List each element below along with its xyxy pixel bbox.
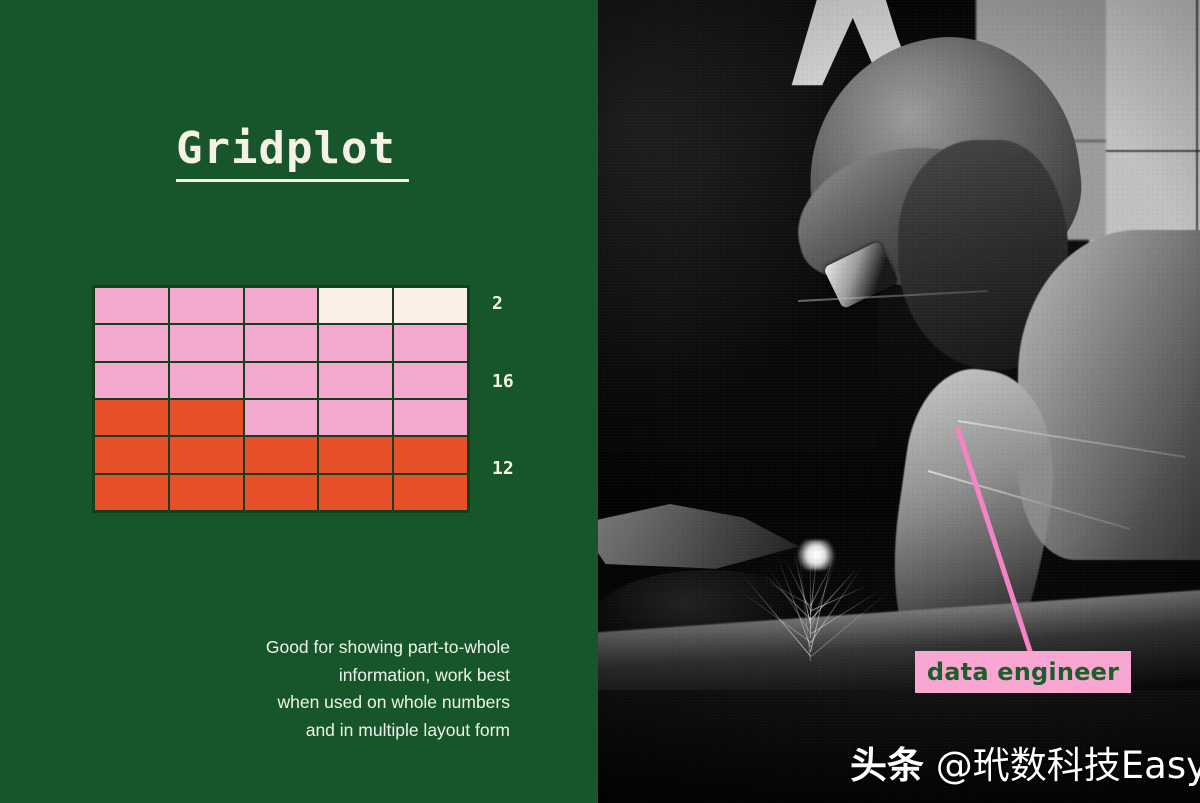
gridplot-cell	[169, 436, 244, 473]
gridplot-cell	[169, 399, 244, 436]
gridplot-cell	[169, 287, 244, 324]
gridplot-cell	[94, 362, 169, 399]
gridplot-cell	[169, 474, 244, 511]
gridplot-cell	[94, 474, 169, 511]
caption-text: Good for showing part-to-whole informati…	[130, 634, 510, 745]
page-title: Gridplot	[176, 127, 396, 171]
gridplot-cell	[94, 287, 169, 324]
gridplot-cell	[169, 324, 244, 361]
photo-spark-core	[794, 540, 838, 570]
gridplot-cell	[393, 362, 468, 399]
caption-line-3: and in multiple layout form	[130, 717, 510, 745]
title-underline	[176, 179, 409, 182]
gridplot-cell	[393, 474, 468, 511]
gridplot-chart	[92, 285, 470, 513]
gridplot-cell	[244, 474, 319, 511]
gridplot-label-2: 12	[492, 458, 514, 479]
gridplot-cell	[318, 287, 393, 324]
gridplot-cell	[393, 436, 468, 473]
gridplot-label-0: 2	[492, 293, 503, 314]
gridplot-cell	[94, 324, 169, 361]
gridplot-cell	[318, 324, 393, 361]
watermark: 头条 @玳数科技EasyV	[850, 735, 1200, 789]
left-content-panel: Gridplot 2 16 12 Good for showing part-t…	[0, 0, 598, 803]
gridplot-cell	[169, 362, 244, 399]
gridplot-cell	[244, 362, 319, 399]
gridplot-value-labels: 2 16 12	[478, 285, 558, 513]
gridplot-cell	[94, 436, 169, 473]
gridplot-label-1: 16	[492, 371, 514, 392]
gridplot-cell	[318, 362, 393, 399]
slide-root: Gridplot 2 16 12 Good for showing part-t…	[0, 0, 1200, 803]
gridplot-cell	[318, 436, 393, 473]
watermark-brand: 头条	[850, 744, 924, 787]
annotation-label-text: data engineer	[927, 658, 1119, 686]
annotation-label-data-engineer: data engineer	[915, 651, 1131, 693]
gridplot-cell	[244, 436, 319, 473]
caption-line-2: when used on whole numbers	[130, 689, 510, 717]
caption-line-0: Good for showing part-to-whole	[130, 634, 510, 662]
gridplot-cell	[393, 324, 468, 361]
gridplot-cell	[244, 399, 319, 436]
watermark-handle: @玳数科技EasyV	[936, 744, 1200, 787]
gridplot-cell	[318, 399, 393, 436]
gridplot-cells	[92, 285, 470, 513]
gridplot-cell	[393, 399, 468, 436]
gridplot-cell	[318, 474, 393, 511]
gridplot-cell	[94, 399, 169, 436]
gridplot-cell	[244, 324, 319, 361]
gridplot-cell	[393, 287, 468, 324]
caption-line-1: information, work best	[130, 662, 510, 690]
gridplot-cell	[244, 287, 319, 324]
